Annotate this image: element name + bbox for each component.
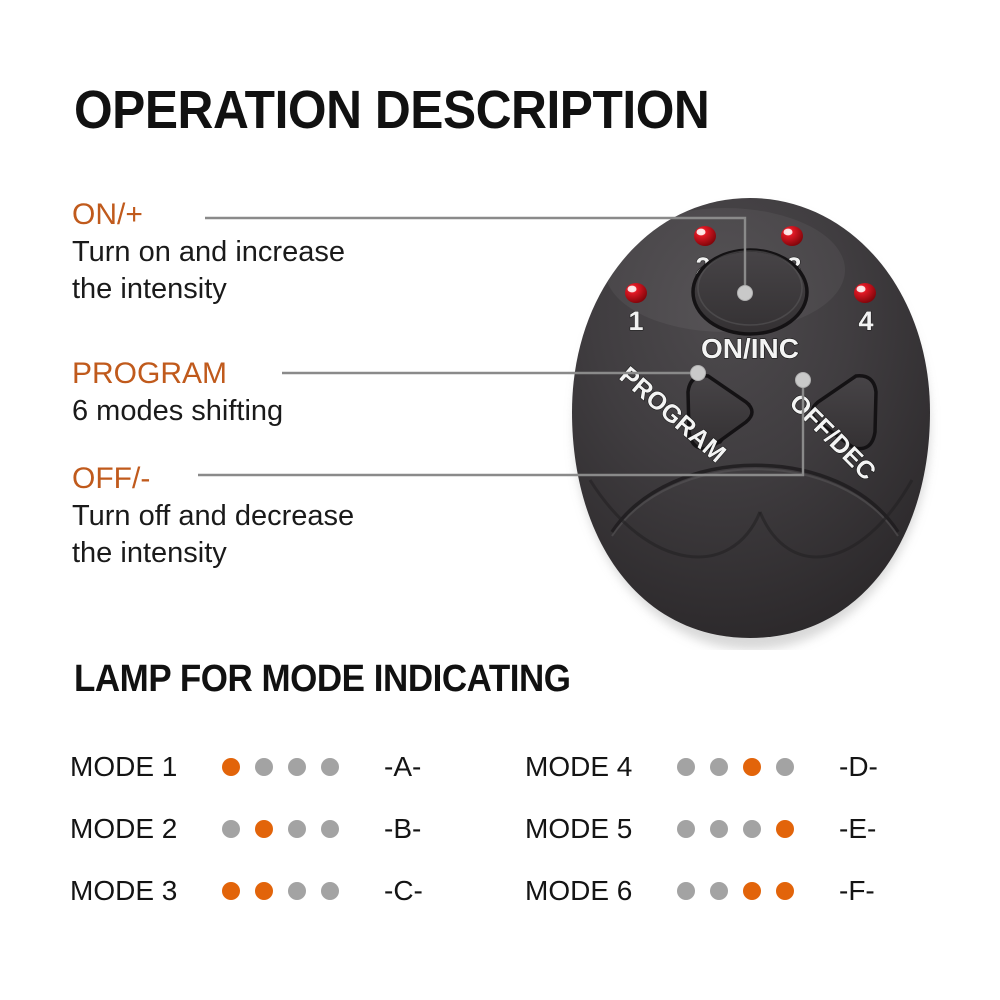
callout-on-key: ON/+ xyxy=(72,196,492,234)
lamp-group xyxy=(222,820,362,838)
callout-off: OFF/- Turn off and decrease the intensit… xyxy=(72,460,492,572)
lamp-indicator-on xyxy=(743,882,761,900)
mode-table-right-column: MODE 4-D-MODE 5-E-MODE 6-F- xyxy=(525,736,925,922)
lamp-indicator-off xyxy=(255,758,273,776)
lamp-indicator-on xyxy=(743,758,761,776)
device-button-on-inc-label: ON/INC xyxy=(701,333,799,364)
mode-table-left-column: MODE 1-A-MODE 2-B-MODE 3-C- xyxy=(70,736,470,922)
led-1-label: 1 xyxy=(628,306,643,336)
mode-row: MODE 3-C- xyxy=(70,860,470,922)
led-1 xyxy=(625,283,647,303)
callout-off-line1: Turn off and decrease xyxy=(72,498,452,535)
mode-label: MODE 4 xyxy=(525,751,677,783)
lamp-indicator-off xyxy=(222,820,240,838)
mode-table: MODE 1-A-MODE 2-B-MODE 3-C- MODE 4-D-MOD… xyxy=(70,736,950,926)
led-2 xyxy=(694,226,716,246)
lamp-indicator-off xyxy=(776,758,794,776)
lamp-indicator-off xyxy=(677,882,695,900)
led-4 xyxy=(854,283,876,303)
page-root: OPERATION DESCRIPTION ON/+ Turn on and i… xyxy=(0,0,1000,1000)
lamp-group xyxy=(222,758,362,776)
device-svg: 1 2 3 4 ON/INC xyxy=(560,180,960,650)
callout-off-key: OFF/- xyxy=(72,460,492,498)
lamp-indicator-off xyxy=(288,758,306,776)
callout-on-line1: Turn on and increase xyxy=(72,234,452,271)
mode-row: MODE 4-D- xyxy=(525,736,925,798)
lamp-indicator-off xyxy=(710,758,728,776)
mode-code: -D- xyxy=(839,751,878,783)
lamp-indicator-on xyxy=(776,820,794,838)
callout-on: ON/+ Turn on and increase the intensity xyxy=(72,196,492,308)
device-illustration: 1 2 3 4 ON/INC xyxy=(560,180,960,650)
mode-code: -A- xyxy=(384,751,421,783)
mode-row: MODE 1-A- xyxy=(70,736,470,798)
page-title: OPERATION DESCRIPTION xyxy=(74,78,709,142)
lamp-indicator-off xyxy=(288,882,306,900)
mode-label: MODE 3 xyxy=(70,875,222,907)
device-button-on-inc[interactable] xyxy=(693,250,807,334)
callout-program-line1: 6 modes shifting xyxy=(72,393,452,430)
lamp-indicator-off xyxy=(321,758,339,776)
mode-row: MODE 2-B- xyxy=(70,798,470,860)
mode-label: MODE 2 xyxy=(70,813,222,845)
mode-row: MODE 5-E- xyxy=(525,798,925,860)
mode-code: -C- xyxy=(384,875,423,907)
callout-on-line2: the intensity xyxy=(72,271,452,308)
lamp-group xyxy=(677,882,817,900)
lamp-indicator-on xyxy=(776,882,794,900)
lamp-indicator-off xyxy=(743,820,761,838)
lamp-group xyxy=(222,882,362,900)
mode-label: MODE 1 xyxy=(70,751,222,783)
lamp-group xyxy=(677,758,817,776)
lamp-group xyxy=(677,820,817,838)
lamp-indicator-off xyxy=(288,820,306,838)
lamp-section-title: LAMP FOR MODE INDICATING xyxy=(74,656,571,702)
led-4-label: 4 xyxy=(858,306,873,336)
lamp-indicator-off xyxy=(677,758,695,776)
mode-row: MODE 6-F- xyxy=(525,860,925,922)
mode-label: MODE 5 xyxy=(525,813,677,845)
mode-code: -B- xyxy=(384,813,421,845)
led-3 xyxy=(781,226,803,246)
lamp-indicator-on xyxy=(255,882,273,900)
lamp-indicator-off xyxy=(710,882,728,900)
callout-off-line2: the intensity xyxy=(72,535,452,572)
lamp-indicator-off xyxy=(677,820,695,838)
lamp-indicator-off xyxy=(321,882,339,900)
callout-program-key: PROGRAM xyxy=(72,355,492,393)
callout-program: PROGRAM 6 modes shifting xyxy=(72,355,492,430)
lamp-indicator-on xyxy=(222,758,240,776)
lamp-indicator-off xyxy=(710,820,728,838)
lamp-indicator-on xyxy=(222,882,240,900)
mode-code: -F- xyxy=(839,875,875,907)
lamp-indicator-on xyxy=(255,820,273,838)
mode-label: MODE 6 xyxy=(525,875,677,907)
lamp-indicator-off xyxy=(321,820,339,838)
mode-code: -E- xyxy=(839,813,876,845)
